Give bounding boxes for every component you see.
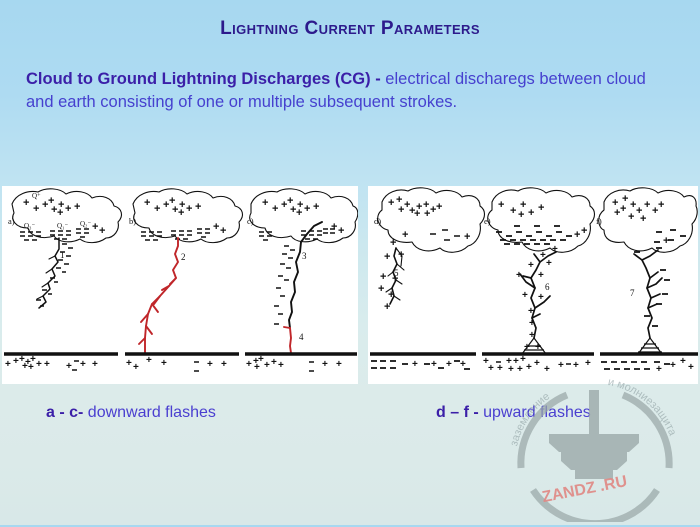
svg-text:+: +	[398, 249, 404, 261]
sublabel-b: b)	[129, 216, 136, 226]
cloud-negative-charges-a	[20, 229, 89, 306]
slide-root: Lightning Current Parameters Cloud to Gr…	[0, 0, 700, 525]
cloud-negative-charges-d	[430, 230, 460, 240]
return-stroke-c	[284, 327, 291, 353]
svg-text:+: +	[644, 199, 650, 211]
zandz-watermark: ZANDZ .RU заземление и молниезащита	[497, 372, 693, 522]
svg-text:+: +	[48, 195, 54, 207]
svg-text:+: +	[99, 225, 105, 237]
svg-text:+: +	[529, 318, 535, 329]
sublabel-e: e)	[484, 216, 491, 226]
svg-text:+: +	[517, 364, 523, 375]
svg-text:+: +	[384, 251, 390, 263]
svg-text:+: +	[688, 362, 694, 373]
svg-text:+: +	[524, 342, 530, 353]
leader-charges-e: +++ +++ ++ ++ +++	[516, 244, 558, 353]
cloud-positive-charges-e: +++ +++ ++	[498, 199, 587, 241]
svg-text:+: +	[464, 231, 470, 243]
svg-text:+: +	[528, 306, 534, 317]
svg-text:+: +	[538, 270, 544, 281]
svg-text:+: +	[221, 359, 227, 370]
svg-text:+: +	[656, 364, 662, 375]
svg-text:+: +	[529, 330, 535, 341]
svg-text:+: +	[304, 203, 310, 215]
svg-text:+: +	[398, 204, 404, 216]
charge-label-q2: Q₂⁻	[80, 220, 91, 228]
svg-text:+: +	[460, 359, 466, 370]
svg-text:+: +	[296, 207, 302, 219]
channel-number-6: 6	[545, 282, 550, 292]
svg-text:+: +	[510, 205, 516, 217]
svg-text:+: +	[154, 203, 160, 215]
svg-text:+: +	[488, 363, 494, 374]
cloud-positive-charges-d: +++ +++ +++ ++ ++ ++ ++ +++	[378, 194, 442, 313]
svg-text:+: +	[526, 362, 532, 373]
svg-text:+: +	[220, 225, 226, 237]
diagram-panel-upward: d) 5 +++ +++ +++ ++ ++ ++ ++ +++ +	[368, 186, 698, 384]
caption-right-range: d – f -	[436, 404, 479, 421]
ground-charges-f: ++++	[656, 356, 694, 375]
svg-text:+: +	[5, 359, 11, 370]
watermark-brand: ZANDZ .RU	[541, 473, 629, 506]
ground-charges-c: +++ +++ +++	[246, 354, 342, 373]
svg-text:+: +	[628, 211, 634, 223]
cloud-extra-plus-d: +	[464, 231, 470, 243]
ground-negative-c	[309, 362, 314, 371]
upward-flash-figure: d) 5 +++ +++ +++ ++ ++ ++ ++ +++ +	[368, 186, 698, 384]
svg-text:+: +	[498, 199, 504, 211]
svg-text:+: +	[412, 359, 418, 370]
svg-text:+: +	[508, 364, 514, 375]
svg-text:+: +	[213, 221, 219, 233]
svg-text:+: +	[538, 202, 544, 214]
svg-text:+: +	[186, 203, 192, 215]
caption-left-range: a - c-	[46, 404, 83, 421]
svg-text:+: +	[388, 197, 394, 209]
svg-text:+: +	[207, 359, 213, 370]
svg-text:+: +	[272, 203, 278, 215]
ground-negative-b	[194, 362, 199, 371]
svg-text:+: +	[528, 260, 534, 271]
svg-text:+: +	[558, 360, 564, 371]
svg-text:+: +	[614, 207, 620, 219]
svg-text:+: +	[57, 207, 63, 219]
downward-flash-figure: a) Q⁺ Q₃⁻ Q₁⁻ Q₂⁻ 1 +++ +++ +++ ++	[2, 186, 358, 384]
svg-text:+: +	[36, 359, 42, 370]
svg-text:+: +	[574, 229, 580, 241]
svg-text:+: +	[126, 358, 132, 369]
charge-label-q3: Q₃⁻	[24, 222, 35, 230]
svg-text:+: +	[278, 360, 284, 371]
svg-text:+: +	[390, 237, 396, 249]
svg-text:+: +	[680, 356, 686, 367]
svg-text:+: +	[402, 229, 408, 241]
charge-label-q-plus: Q⁺	[32, 192, 41, 200]
ground-charges-b: +++ +++	[126, 355, 227, 373]
svg-text:+: +	[287, 195, 293, 207]
svg-text:+: +	[262, 197, 268, 209]
svg-text:+: +	[380, 271, 386, 283]
tower-f	[638, 338, 662, 354]
svg-text:+: +	[133, 362, 139, 373]
ground-charges-a: +++ +++ +++ +++	[5, 354, 98, 373]
ground-negative-a	[72, 361, 79, 370]
watermark-arc-right: и молниезащита	[607, 376, 679, 438]
diagram-panel-downward: a) Q⁺ Q₃⁻ Q₁⁻ Q₂⁻ 1 +++ +++ +++ ++	[2, 186, 358, 384]
svg-text:+: +	[431, 359, 437, 370]
svg-text:+: +	[65, 203, 71, 215]
svg-text:+: +	[66, 361, 72, 372]
svg-text:+: +	[424, 208, 430, 220]
caption-right-text: upward flashes	[479, 404, 591, 421]
svg-text:+: +	[144, 197, 150, 209]
svg-text:+: +	[195, 201, 201, 213]
cloud-extra-plus-f: +	[663, 235, 669, 247]
lightning-channel-c	[289, 222, 322, 328]
svg-text:+: +	[528, 207, 534, 219]
svg-text:+: +	[522, 290, 528, 301]
svg-text:+: +	[161, 358, 167, 369]
svg-text:+: +	[670, 360, 676, 371]
svg-text:+: +	[178, 207, 184, 219]
leader-charges-f	[634, 248, 670, 326]
svg-text:+: +	[80, 359, 86, 370]
channel-number-4: 4	[299, 332, 304, 342]
svg-text:+: +	[331, 221, 337, 233]
body-paragraph: Cloud to Ground Lightning Discharges (CG…	[26, 68, 676, 115]
svg-text:+: +	[146, 355, 152, 366]
svg-text:+: +	[336, 359, 342, 370]
svg-text:+: +	[546, 258, 552, 269]
svg-text:+: +	[640, 213, 646, 225]
caption-downward-flashes: a - c- downward flashes	[46, 404, 216, 422]
svg-text:+: +	[518, 209, 524, 221]
lightning-channel-b	[139, 238, 178, 353]
svg-text:+: +	[33, 203, 39, 215]
svg-text:+: +	[497, 363, 503, 374]
sublabel-d: d)	[374, 216, 381, 226]
svg-text:+: +	[516, 270, 522, 281]
svg-text:+: +	[446, 359, 452, 370]
svg-text:+: +	[552, 244, 558, 255]
upward-leader-f	[634, 250, 662, 338]
channel-number-2: 2	[181, 252, 186, 262]
svg-text:+: +	[544, 364, 550, 375]
svg-text:+: +	[620, 203, 626, 215]
svg-text:+: +	[585, 358, 591, 369]
svg-text:+: +	[92, 359, 98, 370]
sublabel-f: f)	[596, 216, 602, 226]
svg-text:+: +	[44, 359, 50, 370]
cloud-negative-charges-b	[141, 229, 210, 240]
diagram-area: a) Q⁺ Q₃⁻ Q₁⁻ Q₂⁻ 1 +++ +++ +++ ++	[0, 186, 700, 384]
svg-text:+: +	[92, 221, 98, 233]
svg-text:+: +	[436, 201, 442, 213]
channel-number-7: 7	[630, 288, 635, 298]
svg-text:+: +	[663, 235, 669, 247]
svg-text:+: +	[28, 362, 34, 373]
body-lead: Cloud to Ground Lightning Discharges (CG…	[26, 70, 381, 88]
sublabel-c: c)	[247, 216, 254, 226]
svg-text:+: +	[392, 273, 398, 285]
cloud-positive-charges-b: +++ +++ +++ ++	[144, 195, 226, 237]
svg-text:+: +	[338, 225, 344, 237]
caption-upward-flashes: d – f - upward flashes	[436, 404, 591, 422]
svg-text:+: +	[534, 358, 540, 369]
svg-text:+: +	[271, 357, 277, 368]
svg-text:+: +	[535, 342, 541, 353]
cloud-positive-charges-f: +++ +++ +++ ++	[612, 193, 664, 225]
svg-text:+: +	[264, 360, 270, 371]
ground-charges-e: +++ +++ +++ +++ ++	[483, 354, 591, 375]
cloud-positive-charges-a: +++ +++ +++ ++	[23, 195, 105, 237]
svg-text:+: +	[246, 359, 252, 370]
sublabel-a: a)	[8, 216, 15, 226]
svg-text:+: +	[322, 359, 328, 370]
charge-label-q1: Q₁⁻	[57, 222, 68, 230]
channel-number-3: 3	[302, 251, 307, 261]
watermark-logo: ZANDZ .RU заземление и молниезащита	[497, 372, 693, 522]
svg-text:+: +	[538, 292, 544, 303]
svg-text:+: +	[169, 195, 175, 207]
svg-text:+: +	[23, 197, 29, 209]
svg-text:+: +	[581, 225, 587, 237]
svg-text:+: +	[414, 208, 420, 220]
svg-text:+: +	[74, 201, 80, 213]
ground-negative-d	[371, 361, 470, 369]
caption-left-text: downward flashes	[83, 404, 216, 421]
svg-text:+: +	[313, 201, 319, 213]
page-title: Lightning Current Parameters	[0, 18, 700, 40]
svg-text:+: +	[254, 362, 260, 373]
svg-text:+: +	[378, 283, 384, 295]
cloud-negative-charges-f	[654, 230, 686, 242]
svg-text:+: +	[658, 199, 664, 211]
svg-text:+: +	[384, 301, 390, 313]
svg-text:+: +	[573, 360, 579, 371]
svg-text:+: +	[388, 289, 394, 301]
